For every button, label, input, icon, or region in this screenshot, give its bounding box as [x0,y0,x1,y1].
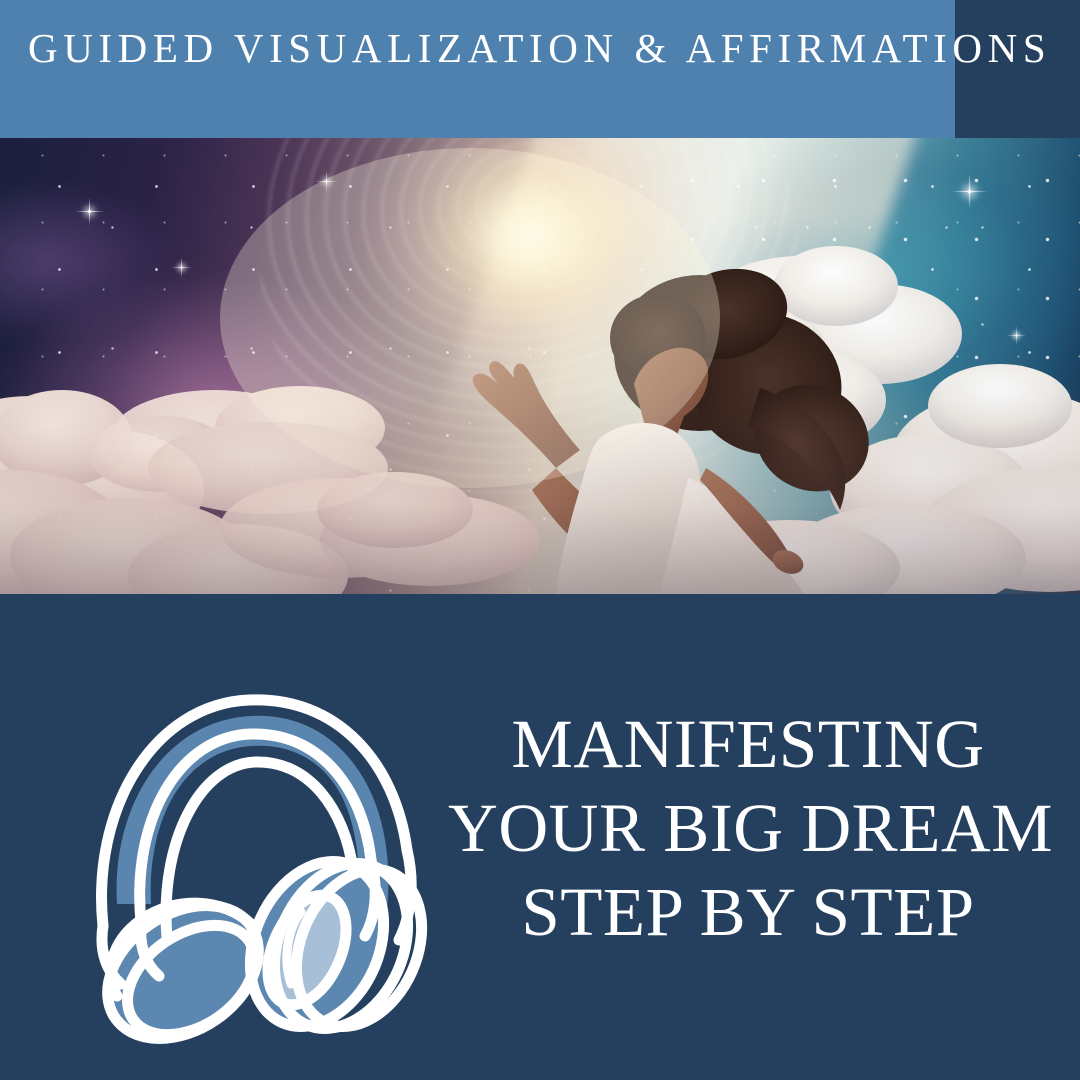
banner-image: GUIDED VISUALIZATION FOR MANIFESTING YOU… [0,138,1080,594]
bottom-title-line-2: YOUR BIG DREAM [448,786,1048,870]
poster-canvas: GUIDED VISUALIZATION & AFFIRMATIONS [0,0,1080,1080]
header-band: GUIDED VISUALIZATION & AFFIRMATIONS [0,0,1080,138]
banner-bottom-haze [0,384,1080,594]
bottom-title: MANIFESTING YOUR BIG DREAM STEP BY STEP [448,702,1048,954]
bottom-section: MANIFESTING YOUR BIG DREAM STEP BY STEP [0,594,1080,1080]
headphones-icon [55,654,435,1054]
header-title: GUIDED VISUALIZATION & AFFIRMATIONS [28,24,938,72]
bottom-title-line-1: MANIFESTING [448,702,1048,786]
bottom-title-line-3: STEP BY STEP [448,870,1048,954]
banner-artwork [0,138,1080,594]
